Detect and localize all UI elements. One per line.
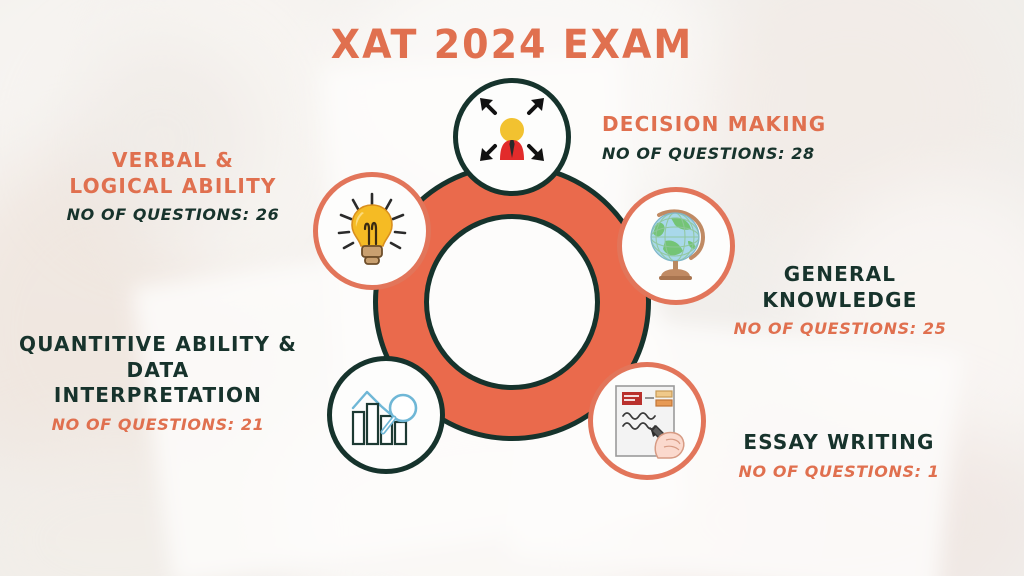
icon-bubble-essay-writing[interactable] xyxy=(588,362,706,480)
label-question-count: NO OF QUESTIONS: 28 xyxy=(602,144,826,163)
label-question-count: NO OF QUESTIONS: 25 xyxy=(720,319,960,338)
icon-bubble-verbal-logical-ability[interactable] xyxy=(313,172,431,290)
label-decision-making: DECISION MAKING NO OF QUESTIONS: 28 xyxy=(602,112,826,163)
label-heading-line2: DATA xyxy=(8,358,308,384)
label-quantitive-ability: QUANTITIVE ABILITY & DATA INTERPRETATION… xyxy=(8,332,308,434)
infographic-poster: XAT 2024 EXAM xyxy=(0,0,1024,576)
page-title: XAT 2024 EXAM xyxy=(0,21,1024,68)
label-essay-writing: ESSAY WRITING NO OF QUESTIONS: 1 xyxy=(714,430,964,481)
label-verbal-logical-ability: VERBAL & LOGICAL ABILITY NO OF QUESTIONS… xyxy=(48,148,298,224)
label-general-knowledge: GENERAL KNOWLEDGE NO OF QUESTIONS: 25 xyxy=(720,262,960,338)
globe-icon xyxy=(633,203,719,289)
icon-bubble-decision-making[interactable] xyxy=(453,78,571,196)
label-heading-line3: INTERPRETATION xyxy=(8,383,308,409)
lightbulb-icon xyxy=(329,188,415,274)
label-heading-line1: QUANTITIVE ABILITY & xyxy=(8,332,308,358)
label-question-count: NO OF QUESTIONS: 21 xyxy=(8,415,308,434)
person-arrows-icon xyxy=(469,94,555,180)
label-heading: ESSAY WRITING xyxy=(714,430,964,456)
label-question-count: NO OF QUESTIONS: 1 xyxy=(714,462,964,481)
label-heading: DECISION MAKING xyxy=(602,112,826,138)
hand-writing-document-icon xyxy=(604,378,690,464)
label-heading-line1: VERBAL & xyxy=(48,148,298,174)
icon-bubble-general-knowledge[interactable] xyxy=(617,187,735,305)
bar-chart-magnifier-icon xyxy=(343,372,429,458)
label-question-count: NO OF QUESTIONS: 26 xyxy=(48,205,298,224)
donut-center-hole xyxy=(424,214,600,390)
label-heading-line2: KNOWLEDGE xyxy=(720,288,960,314)
label-heading-line2: LOGICAL ABILITY xyxy=(48,174,298,200)
label-heading-line1: GENERAL xyxy=(720,262,960,288)
icon-bubble-quantitive-ability[interactable] xyxy=(327,356,445,474)
